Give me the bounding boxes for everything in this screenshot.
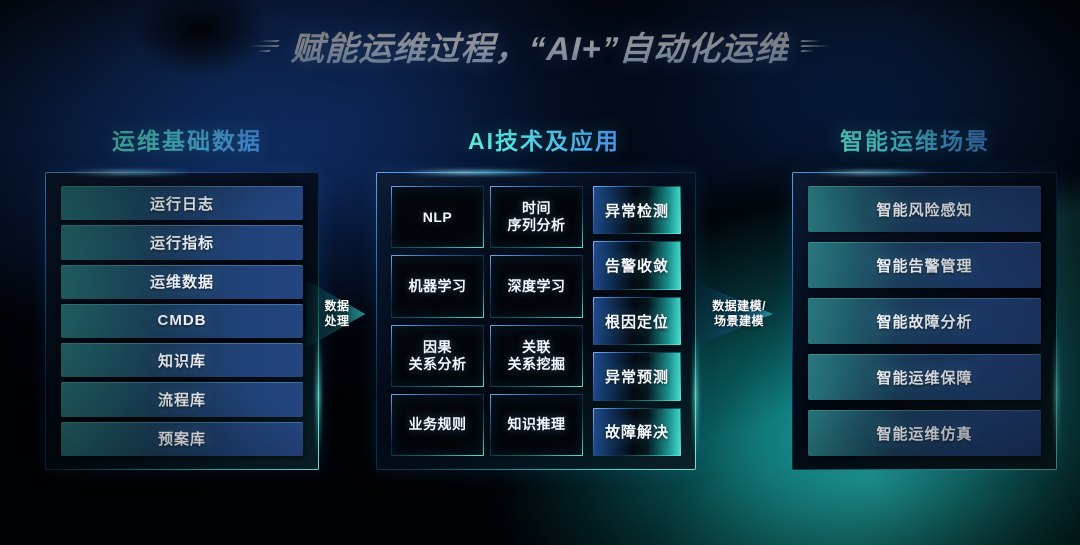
ai-application-list: 异常检测 告警收敛 根因定位 异常预测 故障解决 (593, 186, 681, 456)
list-item[interactable]: 运维数据 (61, 265, 303, 299)
list-item-label: 运行日志 (150, 193, 214, 214)
list-item[interactable]: 预案库 (61, 422, 303, 456)
list-item-label: CMDB (158, 312, 207, 329)
slide-title-row: 赋能运维过程，“AI+”自动化运维 (0, 22, 1080, 70)
tech-card-label: 因果 关系分析 (409, 339, 467, 373)
tech-card-label: 关联 关系挖掘 (508, 339, 566, 373)
tech-card-label: NLP (423, 209, 453, 226)
connector-arrow-modeling: 数据建模/ 场景建模 (698, 283, 794, 345)
application-card-label: 异常检测 (605, 200, 669, 221)
speed-lines-left-icon (245, 40, 279, 52)
ops-scenario-list: 智能风险感知 智能告警管理 智能故障分析 智能运维保障 智能运维仿真 (808, 186, 1041, 456)
ops-data-list: 运行日志 运行指标 运维数据 CMDB 知识库 流程库 预案库 (61, 186, 303, 456)
list-item-label: 智能故障分析 (876, 311, 972, 332)
column-header-ai-tech: AI技术及应用 (468, 122, 620, 156)
slide-canvas: 赋能运维过程，“AI+”自动化运维 运维基础数据 AI技术及应用 智能运维场景 … (0, 0, 1080, 545)
tech-card[interactable]: 时间 序列分析 (490, 186, 583, 248)
list-item[interactable]: 智能运维仿真 (808, 410, 1041, 456)
tech-card[interactable]: NLP (391, 186, 484, 248)
tech-card-label: 深度学习 (508, 278, 566, 295)
connector-label: 数据建模/ 场景建模 (698, 283, 794, 345)
list-item[interactable]: 知识库 (61, 343, 303, 377)
application-card-label: 根因定位 (605, 311, 669, 332)
tech-card[interactable]: 关联 关系挖掘 (490, 325, 583, 387)
list-item[interactable]: 智能故障分析 (808, 298, 1041, 344)
connector-label-line1: 数据建模/ (712, 299, 766, 314)
connector-label-line2: 场景建模 (714, 314, 764, 329)
application-card-label: 告警收敛 (605, 255, 669, 276)
application-card-label: 异常预测 (605, 366, 669, 387)
column-header-ops-scenarios: 智能运维场景 (840, 122, 990, 156)
tech-card[interactable]: 因果 关系分析 (391, 325, 484, 387)
list-item[interactable]: 流程库 (61, 382, 303, 416)
tech-card[interactable]: 机器学习 (391, 255, 484, 317)
application-card[interactable]: 故障解决 (593, 408, 681, 456)
application-card[interactable]: 异常预测 (593, 352, 681, 400)
list-item-label: 流程库 (158, 389, 206, 410)
list-item-label: 预案库 (158, 428, 206, 449)
application-card-label: 故障解决 (605, 421, 669, 442)
application-card[interactable]: 根因定位 (593, 297, 681, 345)
list-item[interactable]: 运行日志 (61, 186, 303, 220)
slide-title: 赋能运维过程，“AI+”自动化运维 (290, 22, 790, 70)
tech-card-label: 时间 序列分析 (508, 200, 566, 234)
tech-card-label: 业务规则 (409, 416, 467, 433)
list-item[interactable]: 智能风险感知 (808, 186, 1041, 232)
tech-card-label: 机器学习 (409, 278, 467, 295)
application-card[interactable]: 异常检测 (593, 186, 681, 234)
tech-card-label: 知识推理 (508, 416, 566, 433)
list-item-label: 运维数据 (150, 271, 214, 292)
panel-intelligent-ops-scenarios: 智能风险感知 智能告警管理 智能故障分析 智能运维保障 智能运维仿真 (792, 172, 1057, 470)
list-item-label: 知识库 (158, 350, 206, 371)
connector-label-line1: 数据 (324, 299, 349, 314)
connector-label: 数据 处理 (306, 280, 382, 348)
ai-tech-layout: NLP 时间 序列分析 机器学习 深度学习 (391, 186, 681, 456)
list-item[interactable]: 智能告警管理 (808, 242, 1041, 288)
application-card[interactable]: 告警收敛 (593, 241, 681, 289)
list-item-label: 智能运维仿真 (876, 423, 972, 444)
list-item-label: 智能告警管理 (876, 255, 972, 276)
list-item-label: 运行指标 (150, 232, 214, 253)
list-item[interactable]: 智能运维保障 (808, 354, 1041, 400)
connector-arrow-data-processing: 数据 处理 (306, 280, 382, 348)
list-item-label: 智能运维保障 (876, 367, 972, 388)
panel-ops-base-data: 运行日志 运行指标 运维数据 CMDB 知识库 流程库 预案库 (45, 172, 319, 470)
list-item-label: 智能风险感知 (876, 199, 972, 220)
tech-card[interactable]: 知识推理 (490, 394, 583, 456)
list-item[interactable]: CMDB (61, 304, 303, 338)
column-header-ops-data: 运维基础数据 (112, 122, 262, 156)
list-item[interactable]: 运行指标 (61, 225, 303, 259)
panel-ai-tech-application: NLP 时间 序列分析 机器学习 深度学习 (376, 172, 696, 470)
tech-card[interactable]: 业务规则 (391, 394, 484, 456)
tech-card[interactable]: 深度学习 (490, 255, 583, 317)
ai-technique-grid: NLP 时间 序列分析 机器学习 深度学习 (391, 186, 583, 456)
connector-label-line2: 处理 (324, 314, 349, 329)
speed-lines-right-icon (801, 40, 835, 52)
